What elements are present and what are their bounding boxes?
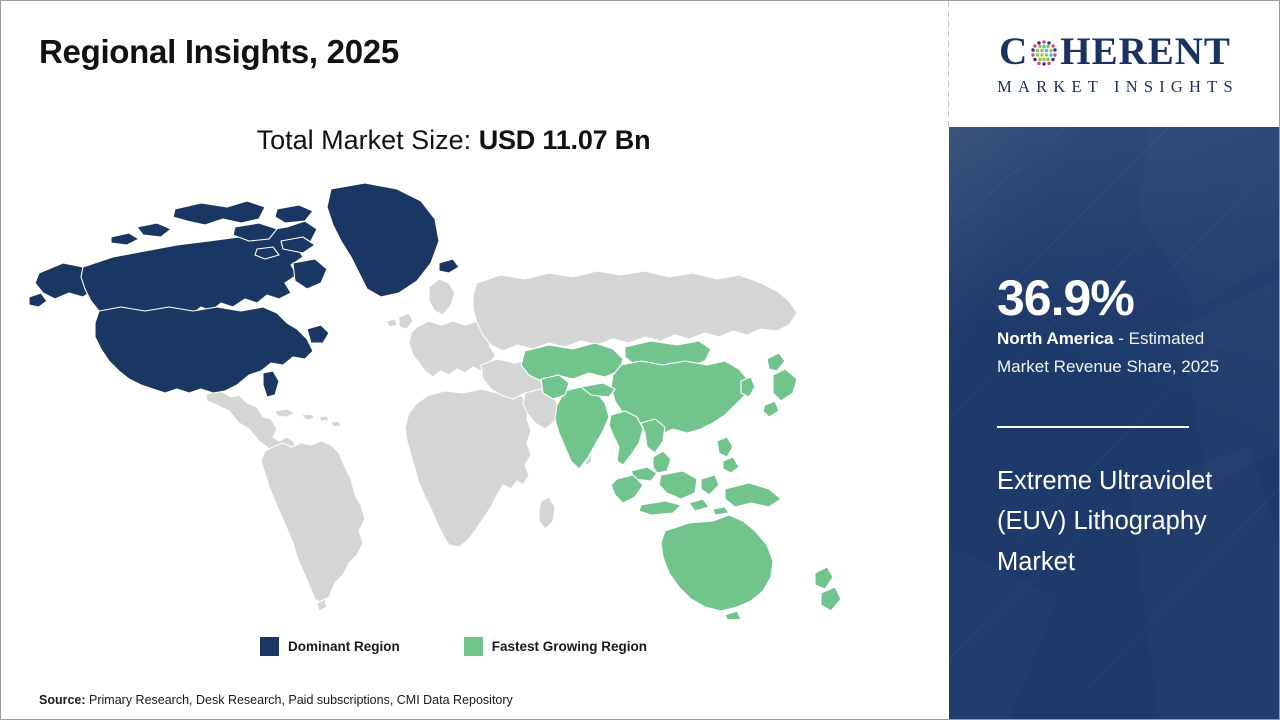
market-name: Extreme Ultraviolet (EUV) Lithography Ma… <box>997 461 1247 582</box>
stat-region-name: North America <box>997 329 1114 348</box>
world-map <box>25 179 905 619</box>
stat-divider-rule <box>997 426 1189 428</box>
right-rail: C <box>949 1 1280 720</box>
total-market-size-value: USD 11.07 Bn <box>479 125 651 155</box>
stat-caption: North America - Estimated Market Revenue… <box>997 325 1259 380</box>
stat-percent-value: 36.9% <box>997 273 1134 323</box>
stat-content: 36.9% North America - Estimated Market R… <box>997 127 1265 720</box>
left-panel: Regional Insights, 2025 Total Market Siz… <box>1 1 949 720</box>
legend-label-fastest-growing: Fastest Growing Region <box>492 639 647 654</box>
source-label: Source: <box>39 693 86 707</box>
legend-swatch-dominant <box>260 637 279 656</box>
map-region-dominant <box>29 183 459 397</box>
logo-letter-c: C <box>999 32 1028 71</box>
logo-wordmark: C <box>999 32 1231 71</box>
stat-panel: 36.9% North America - Estimated Market R… <box>949 127 1280 720</box>
total-market-size-label: Total Market Size: <box>257 125 479 155</box>
page-title: Regional Insights, 2025 <box>39 33 399 71</box>
legend-item-fastest-growing: Fastest Growing Region <box>464 637 647 656</box>
legend-label-dominant: Dominant Region <box>288 639 400 654</box>
logo-word-herent: HERENT <box>1060 32 1231 71</box>
logo-tagline: MARKET INSIGHTS <box>991 77 1239 97</box>
source-footer: Source: Primary Research, Desk Research,… <box>39 693 513 707</box>
map-region-fastest-growing <box>521 341 841 619</box>
legend-item-dominant: Dominant Region <box>260 637 400 656</box>
source-text: Primary Research, Desk Research, Paid su… <box>86 693 513 707</box>
dotted-globe-icon <box>1029 38 1059 68</box>
map-legend: Dominant Region Fastest Growing Region <box>1 637 906 656</box>
total-market-size: Total Market Size: USD 11.07 Bn <box>1 125 906 156</box>
regional-insights-infographic: Regional Insights, 2025 Total Market Siz… <box>0 0 1280 720</box>
brand-logo: C <box>949 1 1280 127</box>
legend-swatch-fastest-growing <box>464 637 483 656</box>
